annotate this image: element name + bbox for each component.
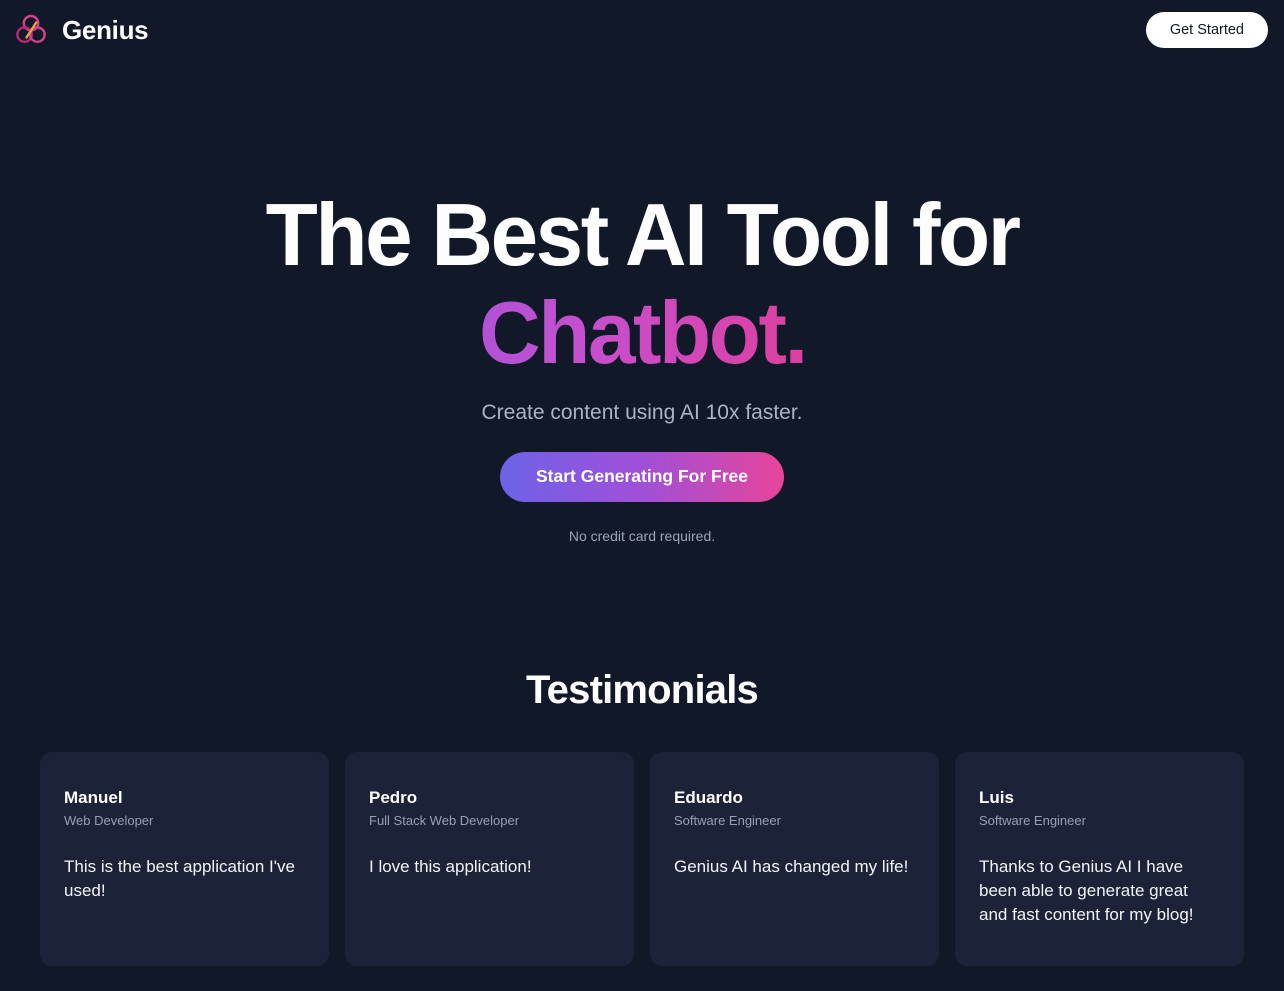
hero-headline-line1: The Best AI Tool for [266,190,1019,281]
testimonial-role: Full Stack Web Developer [369,813,610,829]
brand-name: Genius [62,15,148,46]
testimonial-role: Software Engineer [674,813,915,829]
hero-headline-line2: Chatbot. [479,287,806,379]
testimonial-quote: This is the best application I've used! [64,855,305,903]
get-started-button[interactable]: Get Started [1146,12,1268,49]
testimonial-name: Manuel [64,788,305,808]
testimonial-role: Web Developer [64,813,305,829]
testimonial-card: Manuel Web Developer This is the best ap… [40,752,329,966]
testimonial-name: Eduardo [674,788,915,808]
testimonial-quote: Thanks to Genius AI I have been able to … [979,855,1220,927]
testimonial-name: Luis [979,788,1220,808]
brand-logo-link[interactable]: Genius [14,13,148,47]
testimonial-quote: I love this application! [369,855,610,879]
trefoil-rings-logo-icon [14,13,48,47]
hero-section: The Best AI Tool for Chatbot. Create con… [0,190,1284,544]
no-credit-card-note: No credit card required. [569,528,715,544]
testimonial-card: Pedro Full Stack Web Developer I love th… [345,752,634,966]
landing-page: Genius Get Started The Best AI Tool for … [0,0,1284,991]
testimonials-heading: Testimonials [0,668,1284,713]
testimonials-grid: Manuel Web Developer This is the best ap… [40,752,1244,966]
testimonial-card: Luis Software Engineer Thanks to Genius … [955,752,1244,966]
testimonial-quote: Genius AI has changed my life! [674,855,915,879]
hero-subheadline: Create content using AI 10x faster. [481,401,802,425]
testimonial-name: Pedro [369,788,610,808]
testimonial-role: Software Engineer [979,813,1220,829]
site-header: Genius Get Started [0,0,1284,60]
start-generating-button[interactable]: Start Generating For Free [500,452,784,502]
testimonial-card: Eduardo Software Engineer Genius AI has … [650,752,939,966]
